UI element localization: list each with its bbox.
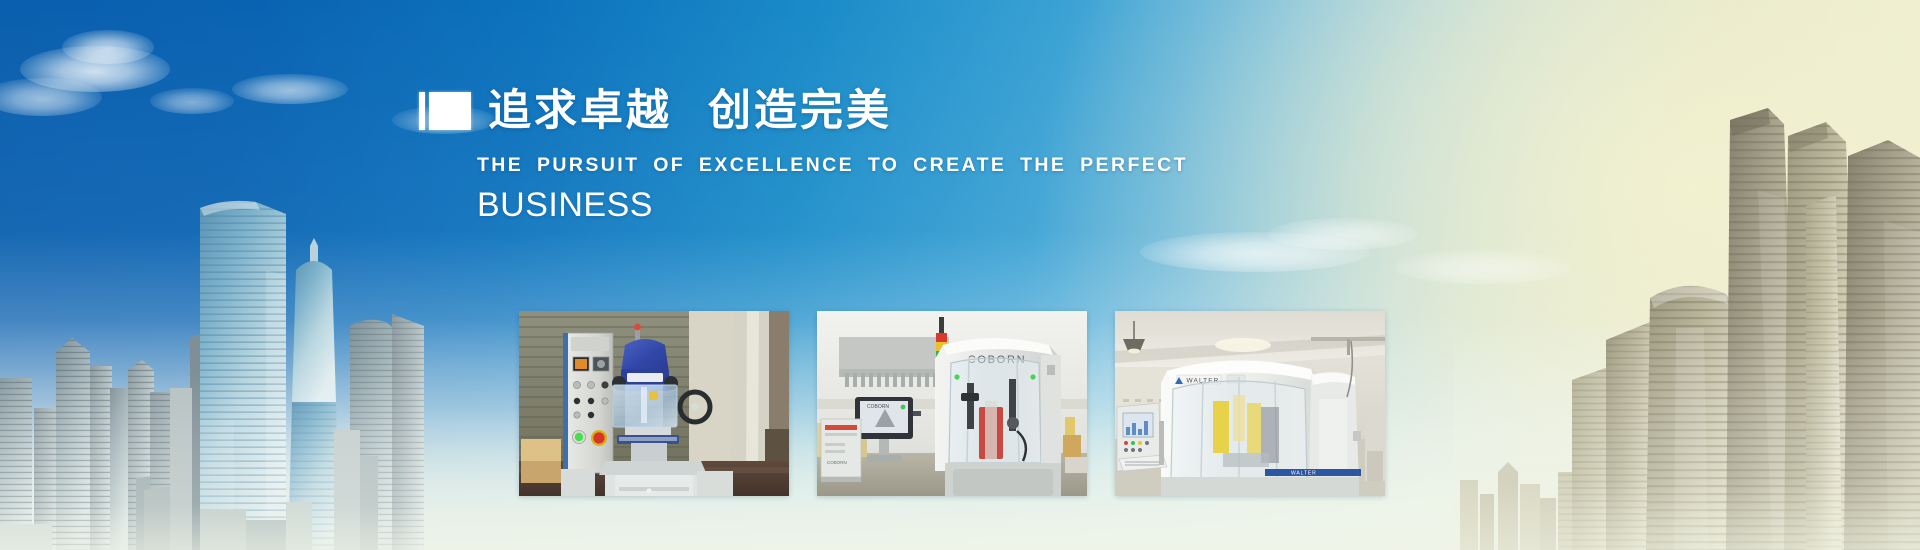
product-photo-1[interactable] xyxy=(519,311,789,496)
logo-mark-icon xyxy=(419,92,471,130)
p3-walter-enclosure: WALTER xyxy=(1161,360,1361,496)
headline-row: 追求卓越 创造完美 xyxy=(419,88,1119,134)
p2-monitor-label: COBORN xyxy=(867,404,889,410)
product-photo-strip: COBORN xyxy=(519,311,1385,496)
subtitle-english: THE PURSUIT OF EXCELLENCE TO CREATE THE … xyxy=(477,154,1119,177)
p3-base-stripe-text: WALTER xyxy=(1291,471,1317,477)
product-photo-3-image: WALTER xyxy=(1115,311,1385,496)
p2-side-cabinet: COBORN xyxy=(821,419,861,482)
logo-block-segment xyxy=(429,92,471,130)
p2-enclosure: COBORN xyxy=(935,338,1061,496)
product-photo-2[interactable]: COBORN xyxy=(817,311,1087,496)
hero-banner: 追求卓越 创造完美 THE PURSUIT OF EXCELLENCE TO C… xyxy=(0,0,1920,550)
page-title: 追求卓越 创造完美 xyxy=(488,90,892,133)
product-photo-2-image: COBORN xyxy=(817,311,1087,496)
product-photo-3[interactable]: WALTER xyxy=(1115,311,1385,496)
subtitle-business: BUSINESS xyxy=(477,186,1119,224)
headline-block: 追求卓越 创造完美 THE PURSUIT OF EXCELLENCE TO C… xyxy=(419,88,1119,224)
product-photo-1-image xyxy=(519,311,789,496)
p1-control-cabinet xyxy=(563,333,613,473)
p3-operator-console xyxy=(1117,403,1167,471)
p2-cabinet-label: COBORN xyxy=(827,460,847,465)
